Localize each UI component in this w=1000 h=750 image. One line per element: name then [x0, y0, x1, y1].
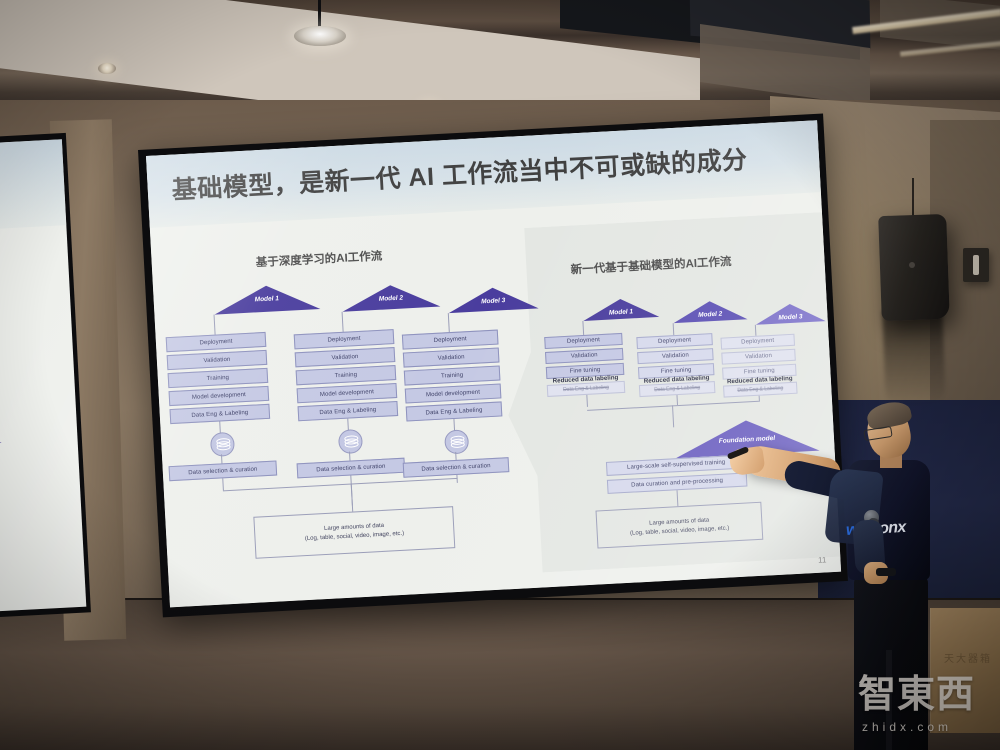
secondary-slide-title-band: [0, 139, 66, 232]
step-box: Validation: [295, 347, 396, 367]
step-box: Training: [168, 368, 269, 388]
database-icon: [338, 429, 363, 454]
model-triangle-label: Model 1: [233, 294, 301, 305]
pendant-light: [294, 26, 346, 46]
wall-speaker-icon: [878, 214, 950, 321]
speaker-shadow: [882, 309, 945, 407]
step-box: Training: [296, 365, 397, 385]
merge-bus-left: [223, 478, 458, 492]
wristwatch-icon: [876, 568, 896, 576]
conference-photo: 天大器箱 11 基础模型，是新一代 AI 工作流当中不可或缺的成分 基于深度学习…: [0, 0, 1000, 750]
step-box: Deployment: [402, 330, 499, 350]
step-box: Validation: [167, 350, 268, 370]
database-icon: [444, 429, 469, 454]
step-box: Model development: [297, 383, 398, 403]
secondary-model-triangle: [0, 421, 2, 448]
step-box: Training: [404, 365, 501, 385]
model-triangle-label: Model 2: [676, 309, 744, 320]
step-box: Validation: [403, 348, 500, 368]
connector: [448, 313, 450, 333]
downlight-1: [98, 63, 116, 74]
wall-sign-icon: [963, 248, 989, 282]
speaker-driver-dot: [909, 262, 915, 268]
step-box: Deployment: [166, 332, 267, 352]
model-triangle-left-3: Model 3: [448, 285, 539, 313]
step-box: Deployment: [294, 329, 395, 349]
model-triangle-label: Model 1: [587, 307, 655, 318]
model-triangle-right-2: Model 2: [673, 299, 748, 323]
speaker-cable: [912, 178, 914, 218]
connector: [214, 315, 216, 337]
model-triangle-label: Model 2: [357, 293, 425, 304]
foundation-model-label: Foundation model: [697, 434, 797, 446]
model-triangle-right-1: Model 1: [582, 297, 659, 321]
projection-screen: 基础模型，是新一代 AI 工作流当中不可或缺的成分 基于深度学习的AI工作流 新…: [146, 120, 841, 607]
model-triangle-left-1: Model 1: [213, 283, 320, 315]
large-data-box-left: Large amounts of data (Log, table, socia…: [253, 506, 455, 559]
step-box: Model development: [405, 383, 502, 403]
connector: [222, 478, 224, 490]
watermark: 智東西 zhidx.com: [858, 676, 994, 738]
watermark-cn: 智東西: [858, 676, 975, 714]
model-triangle-label: Model 3: [756, 312, 824, 323]
database-icon: [210, 432, 235, 457]
model-triangle-left-2: Model 2: [341, 283, 440, 312]
step-box: Model development: [169, 386, 270, 406]
merge-drop-left: [351, 484, 353, 512]
slide: 基础模型，是新一代 AI 工作流当中不可或缺的成分 基于深度学习的AI工作流 新…: [146, 120, 841, 607]
model-triangle-right-3: Model 3: [755, 302, 826, 325]
watermark-en: zhidx.com: [862, 720, 952, 734]
left-section-heading: 基于深度学习的AI工作流: [255, 248, 382, 271]
model-triangle-label: Model 3: [459, 296, 527, 307]
connector: [342, 312, 344, 334]
